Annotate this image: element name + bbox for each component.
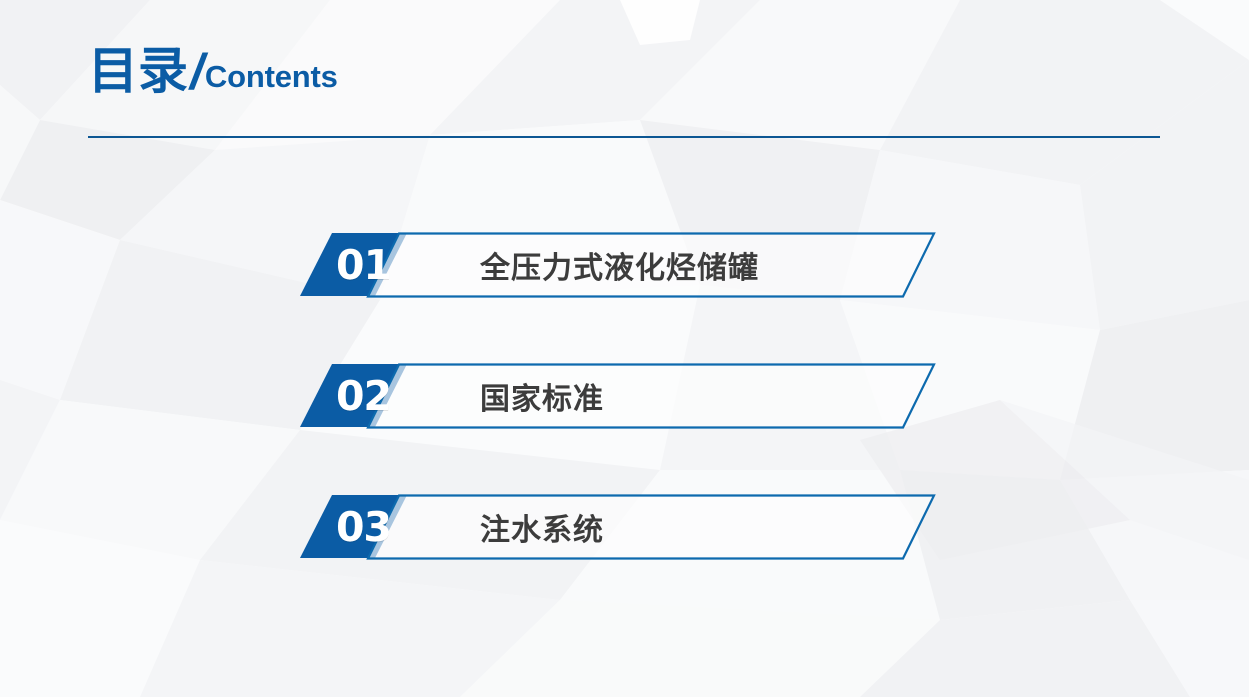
contents-item-shape	[288, 494, 948, 560]
contents-item-shape	[288, 363, 948, 429]
slide-header: 目录 / Contents	[88, 46, 1160, 96]
contents-item-label: 国家标准	[480, 363, 604, 428]
page-title: 目录 / Contents	[88, 46, 1160, 96]
title-separator: /	[188, 47, 205, 97]
contents-item-03[interactable]: 03 注水系统	[0, 494, 1249, 559]
contents-item-02[interactable]: 02 国家标准	[0, 363, 1249, 428]
title-underline-rule	[88, 136, 1160, 138]
contents-item-label: 注水系统	[480, 494, 604, 559]
page-title-en: Contents	[205, 61, 338, 92]
contents-item-label: 全压力式液化烃储罐	[480, 232, 759, 297]
contents-item-01[interactable]: 01 全压力式液化烃储罐	[0, 232, 1249, 297]
page-title-cn: 目录	[88, 46, 188, 96]
slide-canvas: 目录 / Contents 01 全压力式液化烃储罐 02 国家标准	[0, 0, 1249, 697]
contents-list: 01 全压力式液化烃储罐 02 国家标准 03 注水系统	[0, 232, 1249, 625]
